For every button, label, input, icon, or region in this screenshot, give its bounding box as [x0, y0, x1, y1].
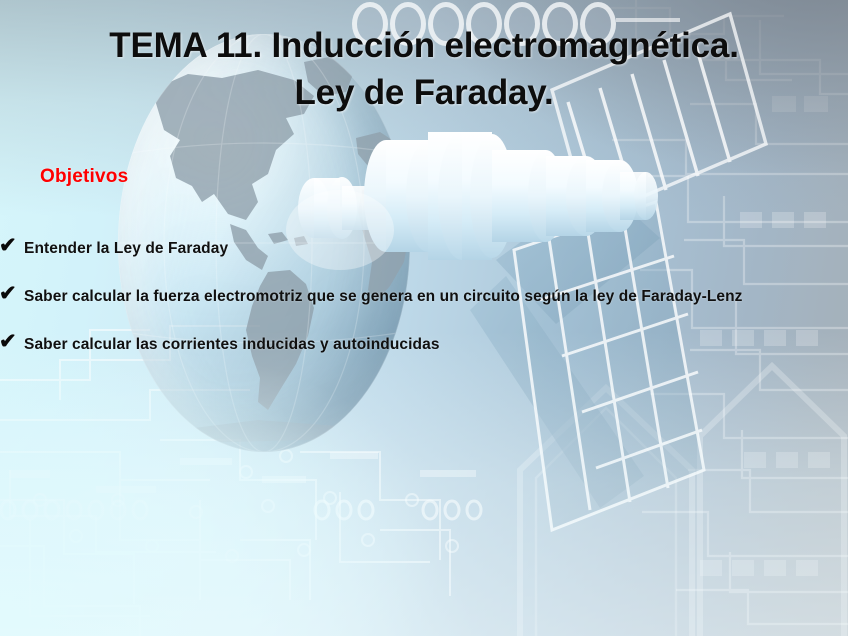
- section-label-objetivos: Objetivos: [40, 166, 128, 188]
- check-icon: ✔: [0, 282, 17, 306]
- check-icon: ✔: [0, 330, 17, 354]
- page-title: TEMA 11. Inducción electromagnética. Ley…: [0, 22, 848, 116]
- check-icon: ✔: [0, 234, 17, 258]
- list-item: ✔ Saber calcular las corrientes inducida…: [0, 332, 810, 358]
- list-item: ✔ Entender la Ley de Faraday: [0, 236, 810, 262]
- list-item-label: Entender la Ley de Faraday: [24, 236, 810, 262]
- list-item-label: Saber calcular la fuerza electromotriz q…: [24, 284, 810, 310]
- list-item-label: Saber calcular las corrientes inducidas …: [24, 332, 810, 358]
- objectives-list: ✔ Entender la Ley de Faraday ✔ Saber cal…: [0, 236, 810, 380]
- list-item: ✔ Saber calcular la fuerza electromotriz…: [0, 284, 810, 310]
- slide-canvas: TEMA 11. Inducción electromagnética. Ley…: [0, 0, 848, 636]
